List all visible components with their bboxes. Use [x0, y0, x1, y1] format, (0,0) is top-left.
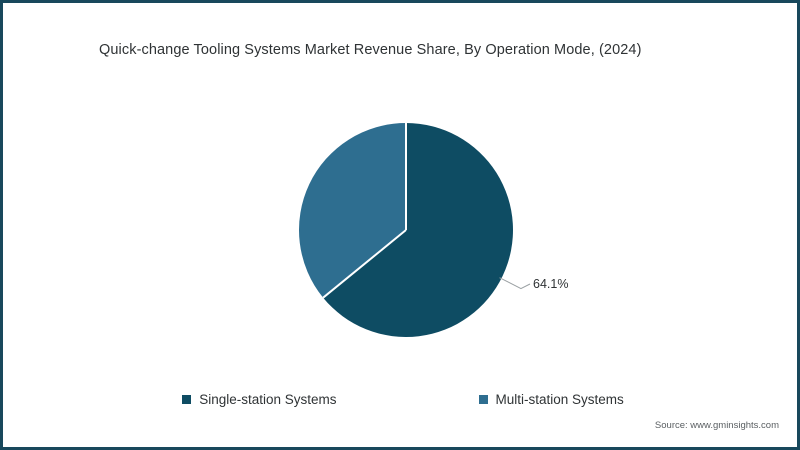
legend-item-label: Multi-station Systems [496, 392, 624, 407]
leader-line [500, 278, 530, 289]
square-marker-icon [182, 395, 191, 404]
chart-card: Quick-change Tooling Systems Market Reve… [0, 0, 800, 450]
legend-item-label: Single-station Systems [199, 392, 336, 407]
square-marker-icon [479, 395, 488, 404]
source-attribution: Source: www.gminsights.com [655, 420, 779, 431]
pie-chart-svg: 64.1% [3, 3, 800, 450]
chart-legend: Single-station Systems Multi-station Sys… [3, 387, 800, 411]
pie-chart: 64.1% [3, 3, 800, 450]
legend-item-multi-station-systems[interactable]: Multi-station Systems [479, 392, 624, 407]
slice-value-label: 64.1% [533, 277, 568, 291]
legend-item-single-station-systems[interactable]: Single-station Systems [182, 392, 336, 407]
